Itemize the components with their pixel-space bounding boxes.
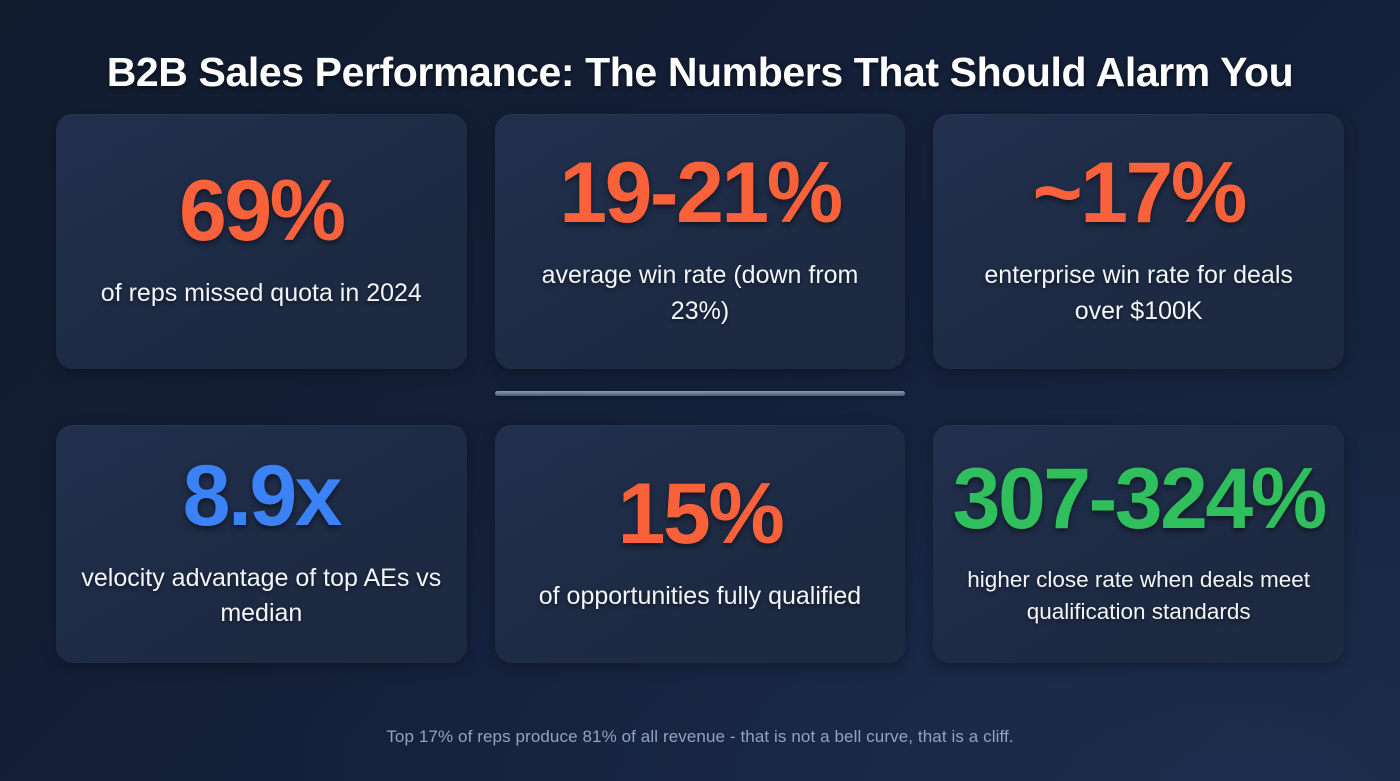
stat-label: velocity advantage of top AEs vs median (81, 561, 441, 632)
stat-value: 307-324% (953, 456, 1325, 542)
stat-label: of opportunities fully qualified (539, 579, 861, 615)
stat-card-velocity-advantage: 8.9x velocity advantage of top AEs vs me… (56, 425, 467, 663)
stat-value: 15% (618, 471, 783, 557)
infographic-poster: B2B Sales Performance: The Numbers That … (0, 0, 1400, 781)
stat-label: enterprise win rate for deals over $100K (959, 258, 1319, 329)
section-divider-row (56, 369, 1344, 417)
stat-value: 69% (179, 168, 344, 254)
stat-card-opportunities-qualified: 15% of opportunities fully qualified (495, 425, 906, 663)
section-divider (495, 391, 905, 396)
stats-grid-row-1: 69% of reps missed quota in 2024 19-21% … (56, 114, 1344, 369)
stat-label: higher close rate when deals meet qualif… (951, 564, 1326, 628)
stat-card-average-win-rate: 19-21% average win rate (down from 23%) (495, 114, 906, 369)
footer-note: Top 17% of reps produce 81% of all reven… (56, 725, 1344, 749)
stat-card-reps-missed-quota: 69% of reps missed quota in 2024 (56, 114, 467, 369)
stat-value: 8.9x (183, 453, 340, 539)
stat-card-higher-close-rate: 307-324% higher close rate when deals me… (933, 425, 1344, 663)
title-section: B2B Sales Performance: The Numbers That … (56, 0, 1344, 106)
stat-label: average win rate (down from 23%) (520, 258, 880, 329)
stat-value: 19-21% (559, 150, 840, 236)
stat-label: of reps missed quota in 2024 (101, 276, 422, 312)
stat-value: ~17% (1032, 150, 1244, 236)
stats-grid-row-2: 8.9x velocity advantage of top AEs vs me… (56, 425, 1344, 680)
page-title: B2B Sales Performance: The Numbers That … (56, 48, 1344, 96)
stat-card-enterprise-win-rate: ~17% enterprise win rate for deals over … (933, 114, 1344, 369)
footer-section: Top 17% of reps produce 81% of all reven… (56, 725, 1344, 781)
